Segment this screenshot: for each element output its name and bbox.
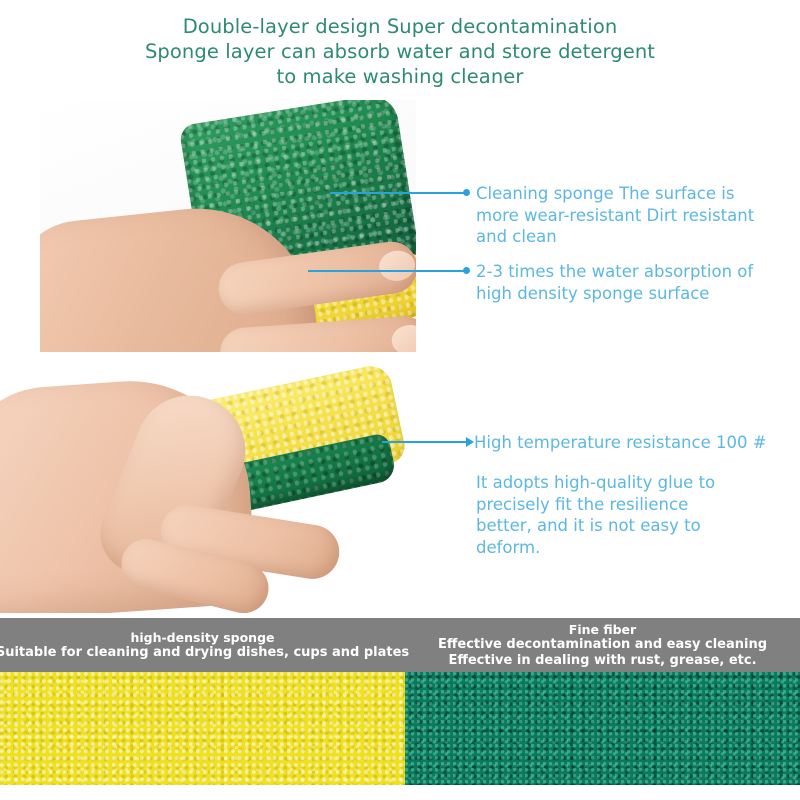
infographic-page: Double-layer design Super decontaminatio…	[0, 0, 800, 800]
caption-bar: high-density sponge Suitable for cleanin…	[0, 618, 800, 672]
page-title: Double-layer design Super decontaminatio…	[0, 14, 800, 89]
leader-line-high-temperature	[382, 441, 468, 443]
leader-arrow-high-temperature	[466, 437, 474, 447]
caption-title: high-density sponge	[130, 630, 274, 646]
callout-cleaning-sponge: Cleaning sponge The surface is more wear…	[476, 183, 796, 248]
leader-dot-water-absorption	[463, 267, 470, 274]
header-line-2: Sponge layer can absorb water and store …	[0, 39, 800, 64]
callout-line: high density sponge surface	[476, 283, 796, 305]
callout-line: better, and it is not easy to	[476, 515, 800, 537]
callout-line: precisely fit the resilience	[476, 494, 800, 516]
caption-line: Effective in dealing with rust, grease, …	[448, 653, 756, 669]
callout-line: High temperature resistance 100 #	[474, 432, 800, 454]
texture-swatch-yellow-sponge	[0, 672, 405, 785]
caption-title: Fine fiber	[569, 622, 636, 638]
callout-line: It adopts high-quality glue to	[476, 472, 800, 494]
callout-high-temperature: High temperature resistance 100 #	[474, 432, 800, 454]
fingernail	[391, 324, 416, 352]
caption-line: Suitable for cleaning and drying dishes,…	[0, 645, 409, 661]
header-line-3: to make washing cleaner	[0, 64, 800, 89]
leader-line-water-absorption	[308, 270, 464, 272]
texture-swatch-green-fiber	[405, 672, 800, 785]
leader-dot-cleaning-sponge	[463, 189, 470, 196]
callout-line: 2-3 times the water absorption of	[476, 261, 796, 283]
callout-line: Cleaning sponge The surface is	[476, 183, 796, 205]
product-photo-top	[40, 100, 416, 352]
leader-line-cleaning-sponge	[330, 192, 464, 194]
callout-line: deform.	[476, 537, 800, 559]
product-photo-bottom	[0, 365, 416, 613]
callout-line: more wear-resistant Dirt resistant	[476, 205, 796, 227]
header-line-1: Double-layer design Super decontaminatio…	[0, 14, 800, 39]
fingernail	[377, 249, 416, 284]
callout-water-absorption: 2-3 times the water absorption of high d…	[476, 261, 796, 304]
callout-line: and clean	[476, 226, 796, 248]
caption-line: Effective decontamination and easy clean…	[438, 637, 767, 653]
callout-glue-resilience: It adopts high-quality glue to precisely…	[476, 472, 800, 558]
caption-high-density-sponge: high-density sponge Suitable for cleanin…	[0, 618, 405, 672]
caption-fine-fiber: Fine fiber Effective decontamination and…	[405, 618, 800, 672]
